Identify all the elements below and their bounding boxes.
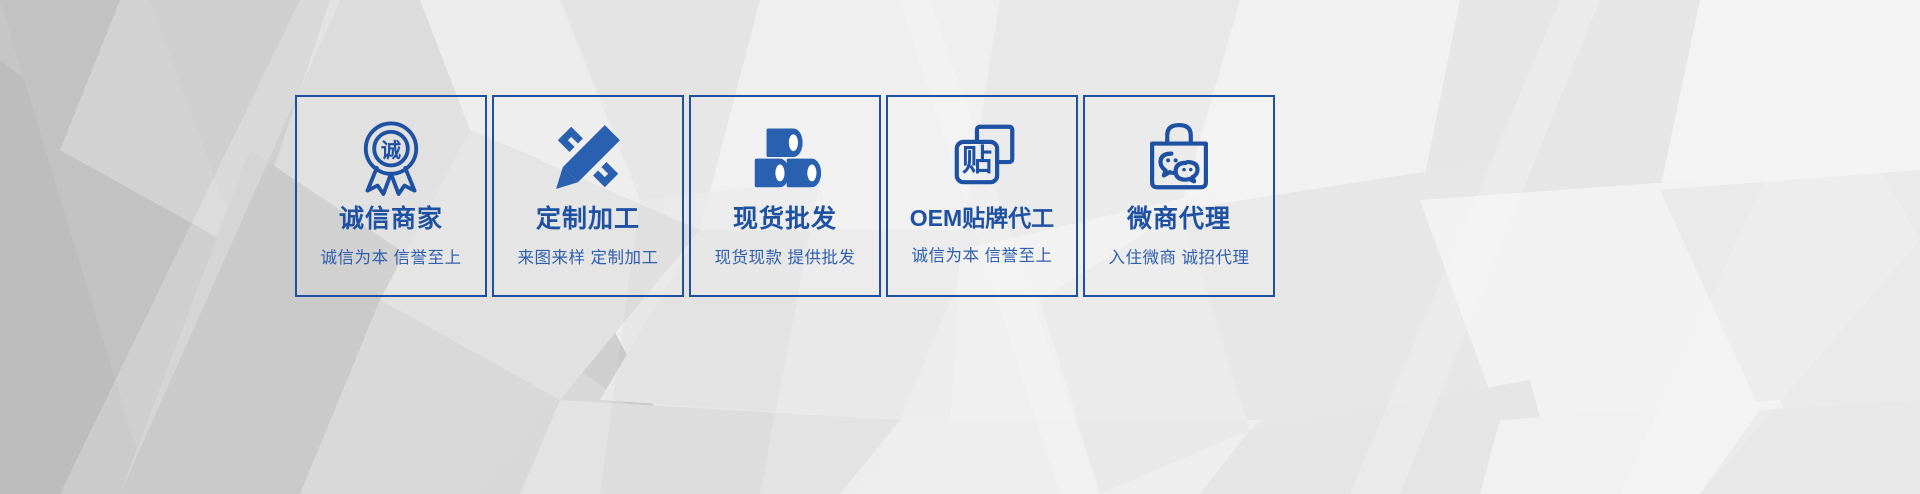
label-tag-icon: 贴 bbox=[936, 115, 1028, 199]
card-title: 微商代理 bbox=[1127, 207, 1231, 232]
banner-stage: 诚 诚信商家 诚信为本 信誉至上 bbox=[0, 0, 1920, 494]
feature-card-oem[interactable]: 贴 OEM贴牌代工 诚信为本 信誉至上 bbox=[886, 95, 1078, 297]
card-subtitle: 入住微商 诚招代理 bbox=[1108, 250, 1249, 267]
feature-card-wechat-agency[interactable]: 微商代理 入住微商 诚招代理 bbox=[1083, 95, 1275, 297]
medal-ribbon-icon: 诚 bbox=[345, 115, 437, 199]
fabric-rolls-icon bbox=[739, 115, 831, 199]
card-subtitle: 诚信为本 信誉至上 bbox=[320, 250, 461, 267]
svg-text:贴: 贴 bbox=[962, 143, 992, 177]
card-subtitle: 诚信为本 信誉至上 bbox=[911, 248, 1052, 265]
feature-card-integrity[interactable]: 诚 诚信商家 诚信为本 信誉至上 bbox=[295, 95, 487, 297]
feature-card-stock-wholesale[interactable]: 现货批发 现货现款 提供批发 bbox=[689, 95, 881, 297]
svg-text:诚: 诚 bbox=[381, 139, 401, 162]
wechat-shopping-bag-icon bbox=[1133, 115, 1225, 199]
card-subtitle: 来图来样 定制加工 bbox=[517, 250, 658, 267]
card-subtitle: 现货现款 提供批发 bbox=[714, 250, 855, 267]
feature-card-custom-processing[interactable]: 定制加工 来图来样 定制加工 bbox=[492, 95, 684, 297]
card-title: 现货批发 bbox=[733, 207, 837, 232]
card-title: 定制加工 bbox=[536, 207, 640, 232]
card-title: 诚信商家 bbox=[339, 207, 443, 232]
card-title: OEM贴牌代工 bbox=[910, 207, 1054, 230]
pencil-ruler-icon bbox=[542, 115, 634, 199]
feature-card-row: 诚 诚信商家 诚信为本 信誉至上 bbox=[295, 95, 1561, 297]
